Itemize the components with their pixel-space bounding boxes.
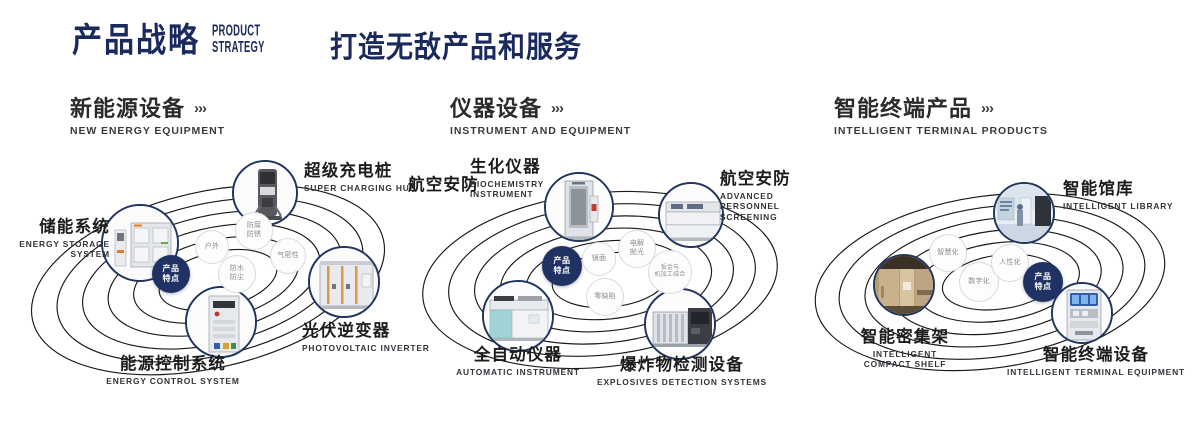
core-bubble-line1: 产品 (1035, 272, 1052, 282)
keyword-line1: 防腐 (247, 222, 261, 231)
node-label-en: AUTOMATIC INSTRUMENT (432, 367, 604, 378)
core-bubble-line1: 产品 (163, 264, 180, 274)
compact-shelving-icon (875, 256, 933, 314)
core-bubble-line2: 特点 (163, 274, 180, 284)
section-heading-en: NEW ENERGY EQUIPMENT (70, 126, 225, 138)
keyword-line2: 防锈 (247, 231, 261, 240)
keyword-bubble-mirror-finish: 镜面 (582, 242, 616, 276)
section-heading-instrument: 仪器设备››› INSTRUMENT AND EQUIPMENT (450, 96, 631, 138)
node-label-en: EXPLOSIVES DETECTION SYSTEMS (582, 377, 782, 388)
keyword-line1: 钣金与 (661, 265, 680, 273)
node-label-intelligent-library: 智能馆库 INTELLIGENT LIBRARY (1063, 180, 1173, 211)
keyword-line1: 防水 (230, 265, 244, 274)
core-bubble-product-features: 产品 特点 (1023, 262, 1063, 302)
screening-machine-icon (660, 184, 722, 246)
page-title-en-line1: PRODUCT (212, 25, 265, 41)
product-strategy-infographic: 产品战略 PRODUCT STRATEGY 打造无敌产品和服务 新能源设备›››… (0, 0, 1200, 422)
chevron-right-icon: ››› (981, 100, 993, 117)
node-label-cn: 能源控制系统 (78, 355, 268, 374)
core-bubble-product-features: 产品 特点 (152, 255, 190, 293)
node-label-super-charging-hub: 超级充电桩 SUPER CHARGING HUB (304, 162, 417, 193)
page-title-cn: 产品战略 (72, 24, 200, 58)
section-heading-new-energy: 新能源设备››› NEW ENERGY EQUIPMENT (70, 96, 225, 138)
core-bubble-line2: 特点 (1035, 282, 1052, 292)
keyword-line2: 防尘 (230, 274, 244, 283)
cluster-intelligent-terminal-products: 智能馆库 INTELLIGENT LIBRARY 智能密集架 (795, 150, 1195, 415)
keyword-line1: 户外 (205, 243, 219, 252)
chevron-right-icon: ››› (551, 100, 563, 117)
keyword-bubble-airtightness: 气密性 (270, 238, 306, 274)
node-label-en: INTELLIGENT COMPACT SHELF (817, 349, 993, 370)
node-label-cn: 储能系统 (12, 218, 110, 237)
keyword-line2: 机加工结合 (654, 272, 685, 280)
cluster-instrument-and-equipment: 航空安防 生化仪器 BIOCHEMISTRY INSTRUMENT (410, 150, 810, 415)
keyword-bubble-zero-defect: 零缺陷 (586, 278, 624, 316)
node-label-en: BIOCHEMISTRY INSTRUMENT (470, 179, 562, 200)
self-service-kiosk-icon (1053, 284, 1111, 342)
node-energy-control-system[interactable] (185, 286, 257, 358)
node-intelligent-compact-shelf[interactable] (873, 254, 935, 316)
core-bubble-line2: 特点 (554, 266, 571, 276)
node-automatic-instrument[interactable] (482, 280, 554, 352)
node-label-cn: 全自动仪器 (432, 346, 604, 365)
keyword-line2: 抛光 (630, 249, 644, 258)
node-label-aviation-security: 航空安防 (408, 176, 479, 195)
section-heading-cn: 智能终端产品 (834, 96, 972, 121)
keyword-bubble-intelligentization: 智慧化 (929, 234, 967, 272)
node-photovoltaic-inverter[interactable] (308, 246, 380, 318)
chevron-right-icon: ››› (194, 100, 206, 117)
control-cabinet-icon (187, 288, 255, 356)
node-advanced-personnel-screening[interactable] (658, 182, 724, 248)
node-intelligent-library[interactable] (993, 182, 1055, 244)
node-label-en: ENERGY STORAGE SYSTEM (12, 239, 110, 260)
node-label-cn: 航空安防 (408, 176, 479, 195)
section-heading-cn: 仪器设备 (450, 96, 542, 121)
page-title-en-line2: STRATEGY (212, 40, 265, 56)
node-label-biochemistry-instrument: 生化仪器 BIOCHEMISTRY INSTRUMENT (470, 158, 562, 200)
cluster-new-energy-equipment: 储能系统 ENERGY STORAGE SYSTEM 超级充电桩 SUP (20, 150, 420, 415)
keyword-bubble-sheetmetal-machining: 钣金与 机加工结合 (648, 250, 692, 294)
keyword-line1: 数字化 (968, 278, 990, 287)
pv-inverter-cabinet-icon (310, 248, 378, 316)
node-label-intelligent-terminal-equipment: 智能终端设备 INTELLIGENT TERMINAL EQUIPMENT (1001, 346, 1191, 377)
core-bubble-product-features: 产品 特点 (542, 246, 582, 286)
node-label-automatic-instrument: 全自动仪器 AUTOMATIC INSTRUMENT (432, 346, 604, 377)
node-label-explosives-detection-systems: 爆炸物检测设备 EXPLOSIVES DETECTION SYSTEMS (582, 356, 782, 387)
automatic-analyzer-icon (484, 282, 552, 350)
page-title: 产品战略 PRODUCT STRATEGY (72, 28, 276, 58)
section-heading-cn: 新能源设备 (70, 96, 185, 121)
node-label-en: INTELLIGENT LIBRARY (1063, 201, 1173, 212)
page-title-en: PRODUCT STRATEGY (212, 25, 265, 56)
keyword-line1: 镜面 (592, 255, 606, 264)
keyword-line1: 气密性 (277, 252, 299, 261)
node-explosives-detection-systems[interactable] (644, 288, 716, 360)
keyword-bubble-waterproof-dustproof: 防水 防尘 (218, 255, 256, 293)
node-label-cn: 生化仪器 (470, 158, 562, 177)
keyword-line1: 电解 (630, 240, 644, 249)
keyword-line1: 智慧化 (937, 249, 959, 258)
keyword-line1: 人性化 (999, 259, 1021, 268)
node-label-en: INTELLIGENT TERMINAL EQUIPMENT (1001, 367, 1191, 378)
core-bubble-line1: 产品 (554, 256, 571, 266)
node-label-cn: 智能密集架 (817, 328, 993, 347)
page-subtitle: 打造无敌产品和服务 (330, 33, 582, 63)
node-label-cn: 智能终端设备 (1001, 346, 1191, 365)
section-heading-en: INTELLIGENT TERMINAL PRODUCTS (834, 126, 1048, 138)
node-label-energy-storage-system: 储能系统 ENERGY STORAGE SYSTEM (12, 218, 110, 260)
keyword-bubble-anti-corrosion: 防腐 防锈 (235, 212, 273, 250)
explosive-detector-icon (646, 290, 714, 358)
node-label-cn: 爆炸物检测设备 (582, 356, 782, 375)
node-label-cn: 超级充电桩 (304, 162, 417, 181)
node-label-energy-control-system: 能源控制系统 ENERGY CONTROL SYSTEM (78, 355, 268, 386)
node-label-en: ENERGY CONTROL SYSTEM (78, 376, 268, 387)
node-label-intelligent-compact-shelf: 智能密集架 INTELLIGENT COMPACT SHELF (817, 328, 993, 370)
keyword-line1: 零缺陷 (594, 293, 616, 302)
node-label-cn: 智能馆库 (1063, 180, 1173, 199)
section-heading-intelligent-terminal: 智能终端产品››› INTELLIGENT TERMINAL PRODUCTS (834, 96, 1048, 138)
smart-archive-room-icon (995, 184, 1053, 242)
node-label-en: SUPER CHARGING HUB (304, 183, 417, 194)
section-heading-en: INSTRUMENT AND EQUIPMENT (450, 126, 631, 138)
